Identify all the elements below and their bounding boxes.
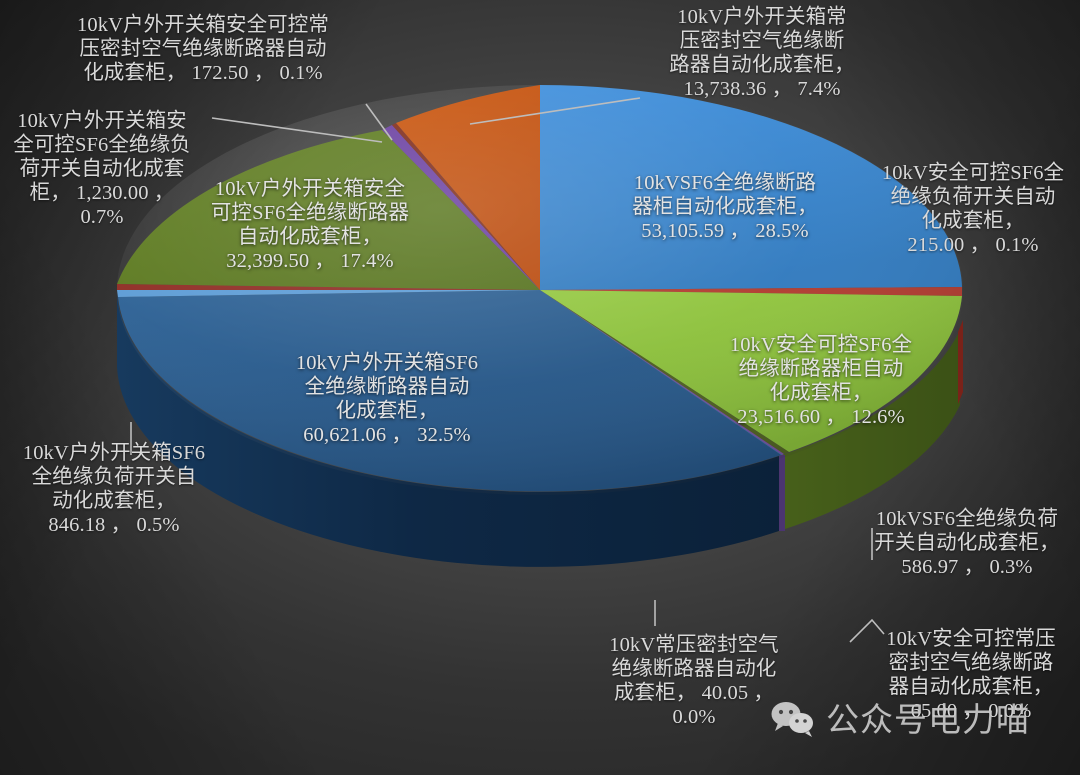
pie-chart-slide: 10kV户外开关箱安全可控常 压密封空气绝缘断路器自动 化成套柜， 172.50… xyxy=(0,0,1080,775)
pie-chart-graphic xyxy=(0,0,1080,775)
wechat-watermark: 公众号电力喵 xyxy=(771,700,1030,738)
wechat-icon xyxy=(771,700,815,738)
watermark-text: 公众号电力喵 xyxy=(826,703,1030,736)
pie-top-surface xyxy=(117,85,963,495)
